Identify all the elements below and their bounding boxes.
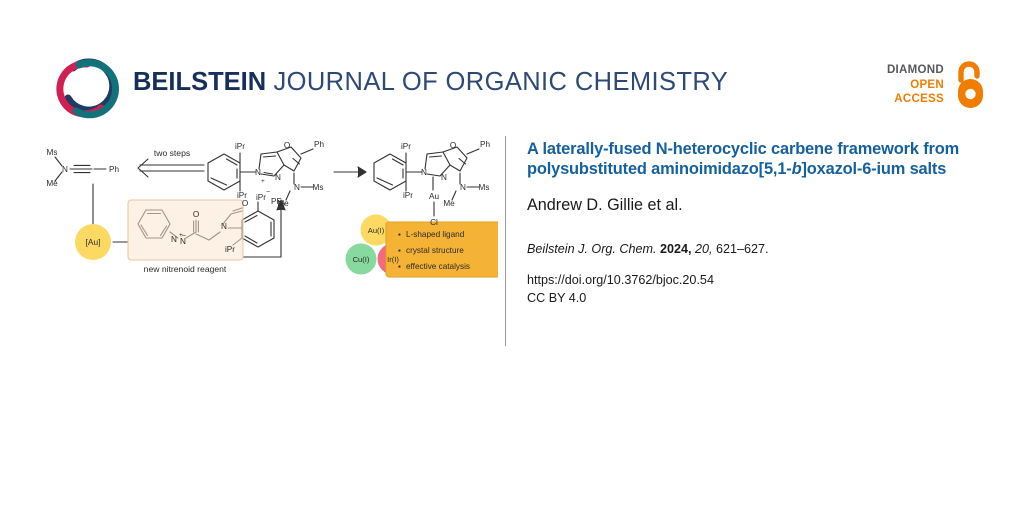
- oa-line-access: ACCESS: [872, 92, 944, 107]
- article-authors: Andrew D. Gillie et al.: [527, 179, 967, 215]
- bullet-text-1: L-shaped ligand: [406, 230, 465, 239]
- article-citation: Beilstein J. Org. Chem. 2024, 20, 621–62…: [527, 215, 967, 258]
- label-n-amide: N: [221, 222, 227, 231]
- label-o-salt: O: [284, 141, 290, 150]
- open-access-text: DIAMOND OPEN ACCESS: [872, 63, 944, 107]
- citation-year: 2024,: [660, 242, 692, 256]
- caption-nitrenoid-reagent: new nitrenoid reagent: [144, 264, 227, 274]
- label-ms-sm: Ms: [47, 148, 58, 157]
- label-ipr-salt-bottom: iPr: [237, 191, 247, 200]
- label-au-metal: Au: [429, 192, 439, 201]
- label-bubble-au: Au(I): [368, 226, 385, 235]
- label-au-catalyst: [Au]: [86, 237, 101, 247]
- label-o-formyl: O: [242, 199, 248, 208]
- label-ipr-salt-top: iPr: [235, 142, 245, 151]
- label-ph-sm: Ph: [109, 165, 119, 174]
- label-bubble-cu: Cu(I): [353, 255, 370, 264]
- label-me-sm: Me: [46, 179, 58, 188]
- label-n-sm: N: [62, 165, 68, 174]
- bullet-text-3: effective catalysis: [406, 262, 470, 271]
- label-ipr-cplx-bottom: iPr: [403, 191, 413, 200]
- structure-gold-complex: [374, 147, 479, 216]
- oa-line-diamond: DIAMOND: [872, 63, 944, 78]
- column-divider: [505, 136, 506, 346]
- label-ph-salt: Ph: [314, 140, 324, 149]
- label-ms-cplx: Ms: [479, 183, 490, 192]
- article-license: CC BY 4.0: [527, 290, 967, 308]
- article-cover-page: BEILSTEIN JOURNAL OF ORGANIC CHEMISTRY D…: [0, 0, 1024, 512]
- label-me-cplx: Me: [443, 199, 455, 208]
- label-n-exo-salt: N: [294, 183, 300, 192]
- counterion-pf: PF: [271, 197, 281, 206]
- bullet-marker-3: ▪: [398, 262, 401, 271]
- bullet-marker-2: ▪: [398, 246, 401, 255]
- label-o-cplx: O: [450, 141, 456, 150]
- label-ipr-cplx-top: iPr: [401, 142, 411, 151]
- beilstein-circles-logo: [55, 56, 121, 122]
- oa-line-open: OPEN: [872, 78, 944, 93]
- wordmark-bold: BEILSTEIN: [133, 68, 266, 96]
- label-ph-cplx: Ph: [480, 140, 490, 149]
- reaction-scheme-svg: Ms Me N Ph two steps [Au] N + – N O O N …: [28, 132, 498, 362]
- connector-reagent-to-product: [243, 200, 285, 257]
- diamond-open-access-badge: DIAMOND OPEN ACCESS: [872, 60, 984, 118]
- article-metadata: A laterally-fused N-heterocyclic carbene…: [527, 140, 967, 307]
- label-n-salt-right: N: [275, 173, 281, 182]
- label-ipr-reagent-bottom: iPr: [225, 245, 235, 254]
- label-o-carbonyl: O: [193, 210, 199, 219]
- label-ms-salt: Ms: [313, 183, 324, 192]
- label-n-exo-cplx: N: [460, 183, 466, 192]
- open-lock-icon: [952, 60, 986, 110]
- article-title-italic: b: [792, 160, 802, 178]
- label-n-cplx-left: N: [421, 168, 427, 177]
- label-plus-charge-salt: +: [261, 178, 265, 185]
- article-doi[interactable]: https://doi.org/10.3762/bjoc.20.54: [527, 258, 967, 290]
- label-minus-charge-salt: −: [266, 189, 270, 196]
- journal-wordmark: BEILSTEIN JOURNAL OF ORGANIC CHEMISTRY: [133, 70, 728, 96]
- label-cl-halide: Cl: [430, 218, 438, 227]
- graphical-abstract: Ms Me N Ph two steps [Au] N + – N O O N …: [28, 132, 498, 362]
- label-n-minus-reagent: N: [180, 237, 186, 246]
- label-ipr-reagent-top: iPr: [256, 193, 266, 202]
- label-n-cplx-right: N: [441, 173, 447, 182]
- wordmark-light: JOURNAL OF ORGANIC CHEMISTRY: [273, 68, 728, 96]
- article-title: A laterally-fused N-heterocyclic carbene…: [527, 140, 967, 179]
- bullet-marker-1: ▪: [398, 230, 401, 239]
- label-n-salt-left: N: [255, 168, 261, 177]
- label-two-steps: two steps: [154, 148, 190, 158]
- citation-pages: 621–627.: [716, 242, 769, 256]
- bullet-text-2: crystal structure: [406, 246, 464, 255]
- article-title-part2: ]oxazol-6-ium salts: [801, 160, 946, 178]
- citation-journal: Beilstein J. Org. Chem.: [527, 242, 656, 256]
- citation-volume: 20,: [695, 242, 713, 256]
- journal-header: BEILSTEIN JOURNAL OF ORGANIC CHEMISTRY D…: [0, 0, 1024, 132]
- label-n-plus-reagent: N: [171, 235, 177, 244]
- forward-arrow: [334, 167, 366, 177]
- retro-arrow: [138, 159, 204, 177]
